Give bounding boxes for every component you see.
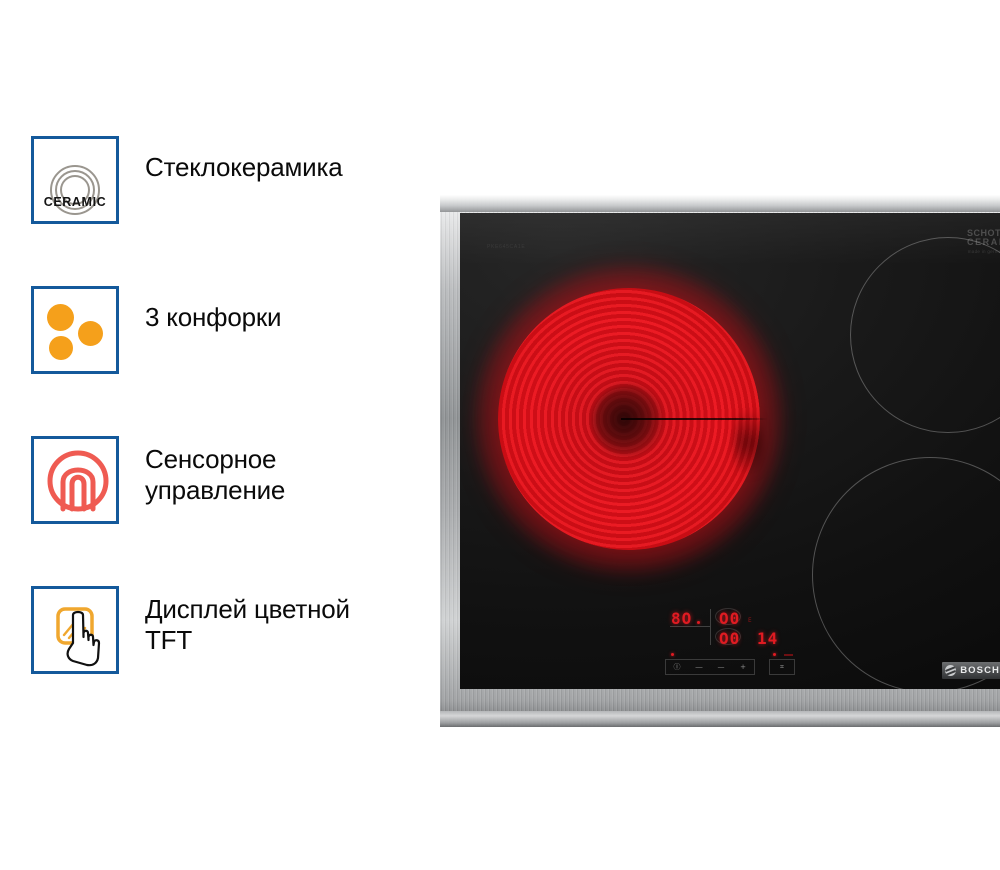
glass-model-marking: PKE645CA1E	[487, 244, 525, 250]
feature-item-tft-display: Дисплей цветной TFT	[31, 586, 431, 678]
timer-display: 8O	[671, 609, 692, 628]
bosch-wordmark: BOSCH	[960, 665, 1000, 676]
slider-key[interactable]: ―	[688, 663, 710, 671]
panel-divider-vertical	[710, 609, 711, 645]
child-lock-key[interactable]: ⌗	[769, 659, 795, 675]
front-right-cooking-zone	[812, 457, 1000, 689]
minus-key[interactable]: —	[710, 663, 732, 671]
power-key-led	[671, 653, 674, 656]
frame-top-highlight	[440, 195, 1000, 212]
touch-control-icon	[31, 436, 119, 524]
timer-decimal-led	[697, 621, 700, 624]
rear-right-cooking-zone	[850, 237, 1000, 433]
front-zone-display: O0	[719, 629, 740, 648]
hand-tap-screen-glyph	[40, 595, 116, 671]
ceramic-icon-caption: CERAMIC	[34, 195, 116, 209]
feature-item-burners: 3 конфорки	[31, 286, 431, 378]
burner-dot-bottom-left	[49, 336, 73, 360]
finger-touch-glyph	[41, 446, 115, 520]
bosch-brand-badge: BOSCH	[942, 662, 1000, 679]
feature-list: CERAMIC Стеклокерамика 3 конфорки Сенсор…	[31, 136, 431, 678]
cooktop-product-image: PKE645CA1E SCHOTT CERAN made in germany …	[440, 195, 1000, 727]
glow-right-shadow	[734, 398, 764, 488]
burner-dot-top-left	[47, 304, 74, 331]
tft-display-icon	[31, 586, 119, 674]
lock-key-led	[773, 653, 776, 656]
plus-key[interactable]: +	[732, 663, 754, 671]
feature-label-touch-control: Сенсорное управление	[145, 436, 285, 506]
lock-key-bar-led	[784, 654, 793, 656]
ceramic-glass-surface: PKE645CA1E SCHOTT CERAN made in germany …	[460, 213, 1000, 689]
touch-key-strip[interactable]: Ⓘ ― — +	[665, 659, 755, 675]
front-left-cooking-zone-glowing	[498, 288, 760, 550]
feature-item-ceramic: CERAMIC Стеклокерамика	[31, 136, 431, 228]
three-burners-icon	[31, 286, 119, 374]
bosch-emblem-icon	[945, 665, 956, 676]
burner-dot-middle-right	[78, 321, 103, 346]
control-panel[interactable]: 8O O0 O0 E 14 Ⓘ ― — + ⌗	[655, 607, 795, 675]
feature-label-tft-display: Дисплей цветной TFT	[145, 586, 350, 656]
feature-item-touch-control: Сенсорное управление	[31, 436, 431, 528]
frame-bottom-highlight	[440, 711, 1000, 727]
feature-label-burners: 3 конфорки	[145, 286, 281, 333]
rear-zone-display: O0	[719, 609, 740, 628]
display-unit-label: E	[748, 617, 752, 624]
ceramic-glass-icon: CERAMIC	[31, 136, 119, 224]
power-key[interactable]: Ⓘ	[666, 662, 688, 672]
power-level-display: 14	[757, 629, 778, 648]
child-lock-key-label: ⌗	[770, 663, 794, 672]
glow-core-shadow	[592, 385, 663, 456]
feature-label-ceramic: Стеклокерамика	[145, 136, 343, 183]
